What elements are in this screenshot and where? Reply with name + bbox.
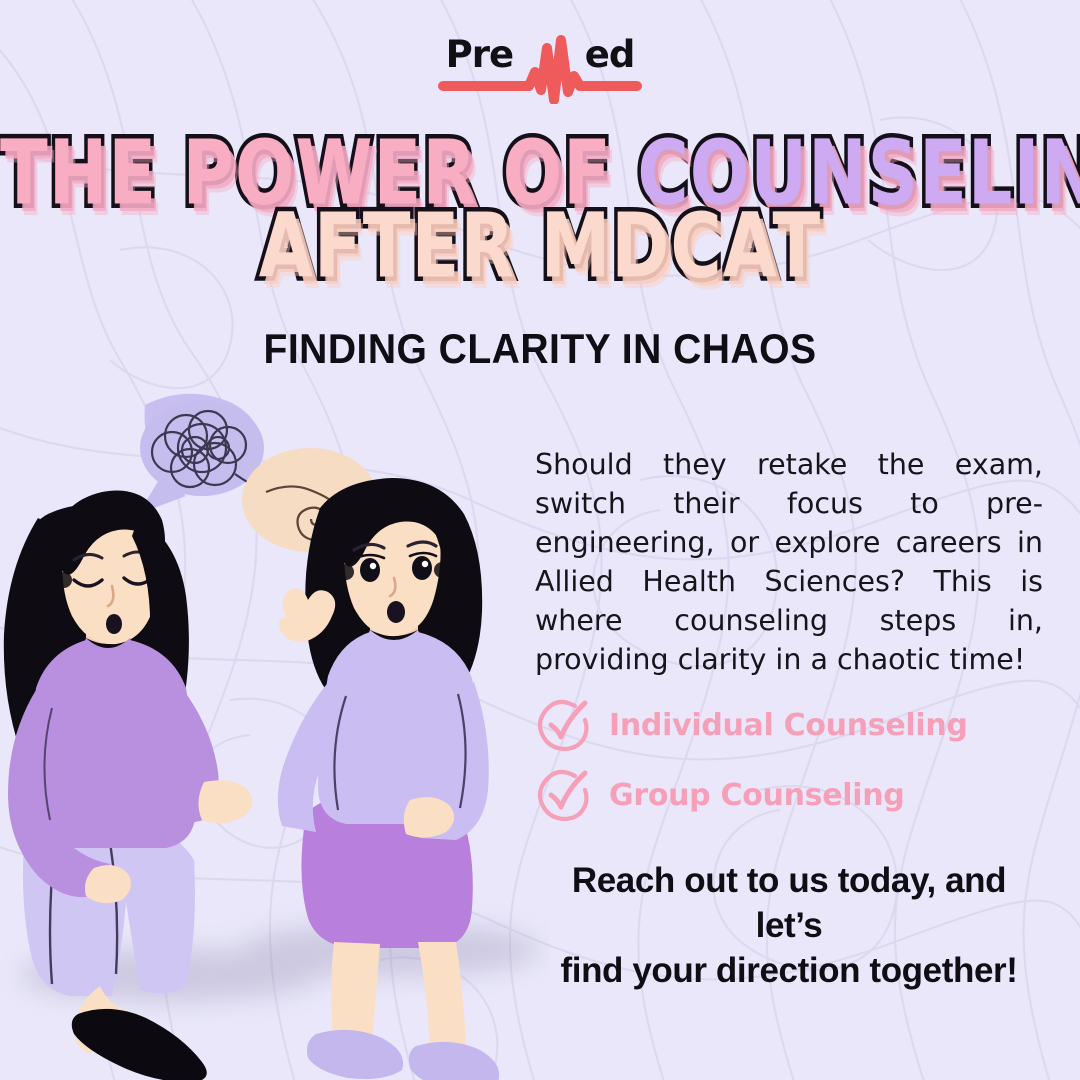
circle-check-icon (535, 697, 591, 753)
headline-segment-mdcat: AFTER MDCAT (259, 204, 821, 290)
list-item[interactable]: Individual Counseling (535, 697, 1043, 753)
logo-text-ed: ed (585, 33, 635, 76)
bullet-label-group: Group Counseling (609, 778, 904, 813)
page-subtitle: FINDING CLARITY IN CHAOS (38, 325, 1042, 373)
person-right (278, 478, 499, 1080)
shoe-black (72, 1009, 207, 1080)
hand-left-person-left (85, 865, 131, 903)
bullet-list: Individual Counseling Group Counseling (535, 697, 1043, 823)
logo-wordmark: PreMMed (435, 34, 645, 76)
cta-line-2: find your direction together! (535, 949, 1043, 994)
brand-logo[interactable]: PreMMed (435, 28, 645, 104)
logo-text-pre: Pre (446, 33, 513, 76)
eye-right (412, 556, 432, 580)
cta-line-1: Reach out to us today, and let’s (535, 859, 1043, 949)
poster-canvas: PreMMed THE POWER OF COUNSELING AFTER MD… (0, 0, 1080, 1080)
body-paragraph: Should they retake the exam, switch thei… (535, 445, 1043, 679)
hand-left-person-right (198, 780, 252, 823)
content-column: Should they retake the exam, switch thei… (535, 445, 1043, 994)
list-item[interactable]: Group Counseling (535, 767, 1043, 823)
call-to-action: Reach out to us today, and let’s find yo… (535, 859, 1043, 993)
circle-check-icon (535, 767, 591, 823)
page-title: THE POWER OF COUNSELING AFTER MDCAT (0, 140, 1080, 280)
bullet-label-individual: Individual Counseling (609, 708, 968, 743)
shoe-lilac-left (307, 1030, 403, 1079)
shoe-lilac-right (409, 1042, 499, 1080)
illustration-two-women-talking (0, 390, 550, 1080)
eye-left (360, 558, 380, 582)
